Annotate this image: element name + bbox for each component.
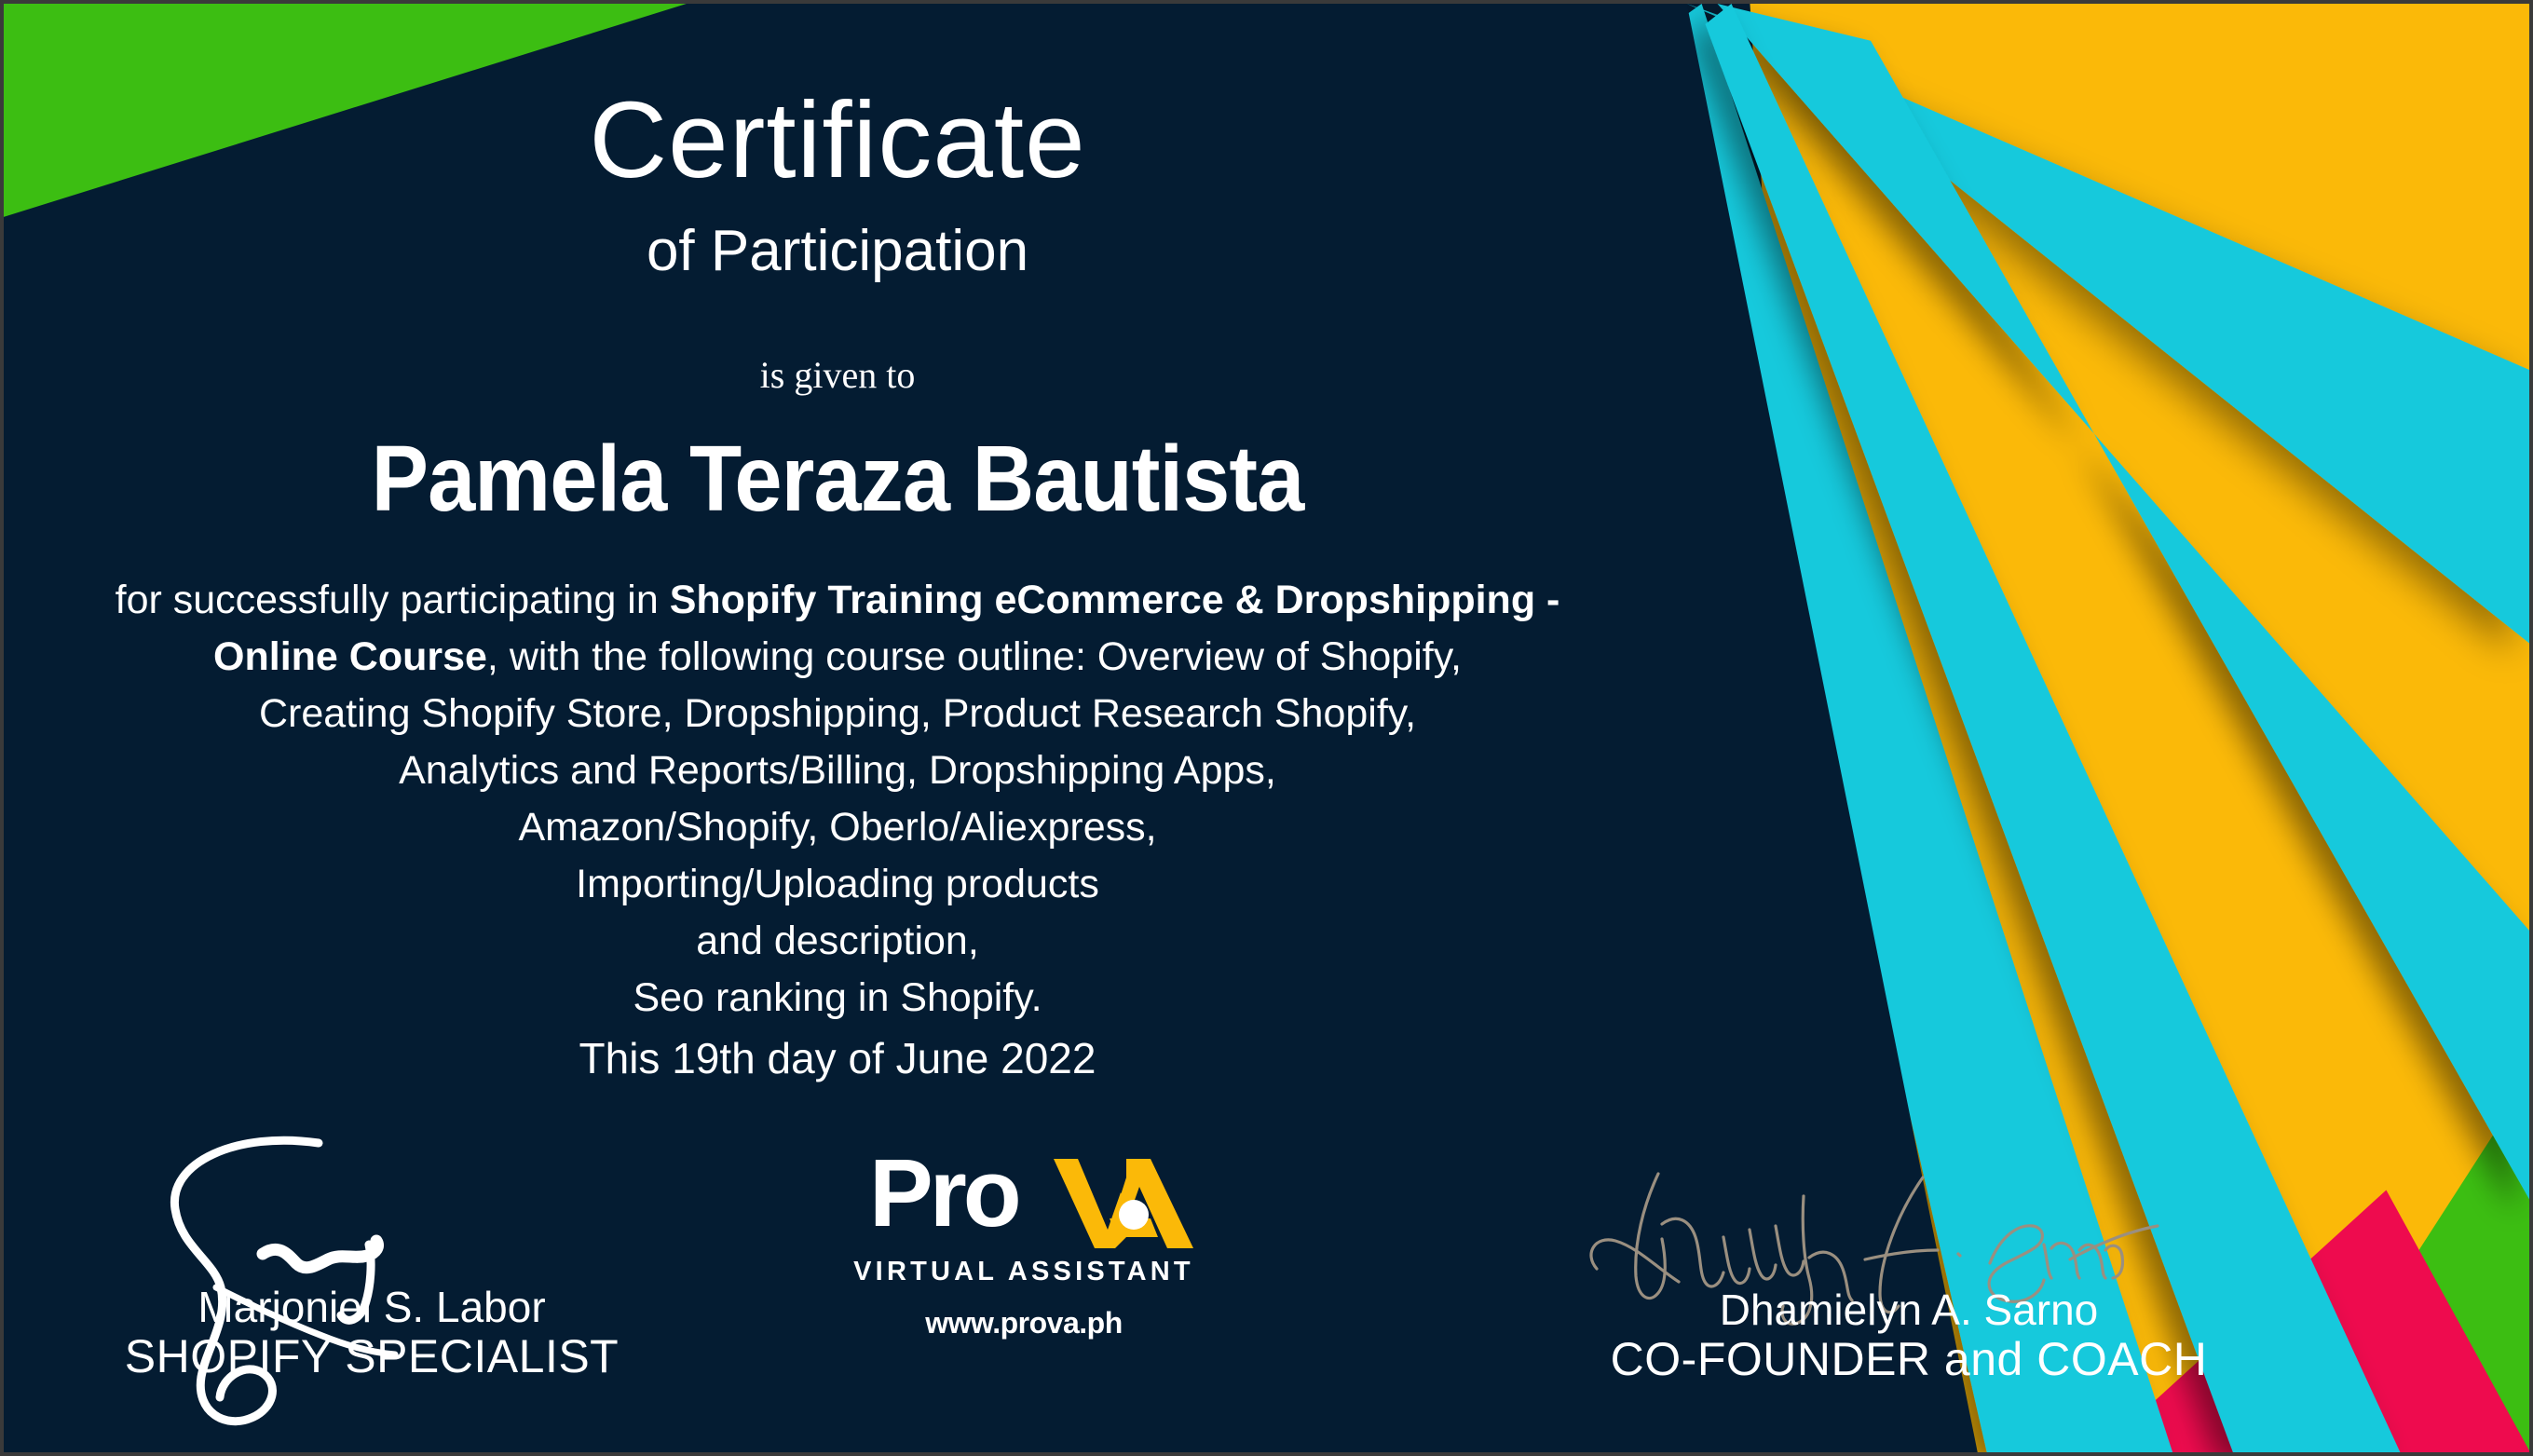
handwritten-signature-icon bbox=[97, 1105, 404, 1449]
certificate-subtitle: of Participation bbox=[4, 223, 1671, 280]
course-description: for successfully participating in Shopif… bbox=[60, 572, 1615, 1027]
body-line-4: Analytics and Reports/Billing, Dropshipp… bbox=[399, 748, 1276, 793]
prova-logo-mark: Pro bbox=[838, 1154, 1210, 1255]
body-line-6: Importing/Uploading products bbox=[576, 862, 1099, 906]
body-line-2: Online Course, with the following course… bbox=[213, 634, 1462, 679]
logo-word-pro: Pro bbox=[869, 1145, 1018, 1241]
cyan-wedge-top bbox=[1687, 4, 2529, 643]
body-line-7: and description, bbox=[696, 919, 979, 963]
logo-url[interactable]: www.prova.ph bbox=[838, 1306, 1210, 1340]
body-line-3: Creating Shopify Store, Dropshipping, Pr… bbox=[259, 691, 1416, 736]
recipient-name: Pamela Teraza Bautista bbox=[71, 432, 1605, 525]
certificate-canvas: Certificate of Participation is given to… bbox=[0, 0, 2533, 1456]
signatory-left: Marjoniel S. Labor SHOPIFY SPECIALIST bbox=[4, 1112, 740, 1382]
body-line-8: Seo ranking in Shopify. bbox=[633, 975, 1042, 1020]
signatory-right-role: CO-FOUNDER and COACH bbox=[1438, 1333, 2379, 1385]
page-title: Certificate bbox=[4, 86, 1671, 194]
logo-tagline: VIRTUAL ASSISTANT bbox=[838, 1257, 1210, 1287]
signatory-right-name: Dhamielyn A. Sarno bbox=[1438, 1287, 2379, 1333]
signatory-right: Dhamielyn A. Sarno CO-FOUNDER and COACH bbox=[1438, 1122, 2379, 1385]
prova-va-monogram-icon bbox=[1054, 1157, 1203, 1250]
prova-logo: Pro VIRTUAL ASSISTANT www.prova.ph bbox=[838, 1154, 1210, 1340]
cyan-wedge-mid bbox=[1718, 4, 2529, 1199]
given-to-label: is given to bbox=[4, 353, 1671, 397]
body-line-5: Amazon/Shopify, Oberlo/Aliexpress, bbox=[518, 805, 1156, 850]
issue-date: This 19th day of June 2022 bbox=[4, 1033, 1671, 1083]
body-line-1: for successfully participating in Shopif… bbox=[116, 578, 1560, 622]
